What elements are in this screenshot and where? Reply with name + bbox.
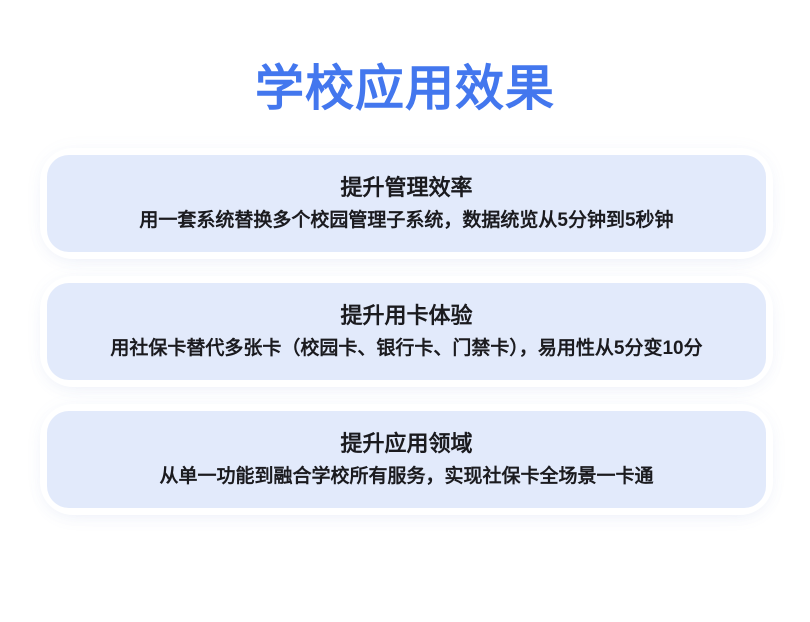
effect-card-heading: 提升管理效率	[340, 173, 472, 203]
effect-card-description: 用社保卡替代多张卡（校园卡、银行卡、门禁卡），易用性从5分变10分	[110, 335, 702, 362]
page-title: 学校应用效果	[0, 60, 810, 118]
effect-card-3: 提升应用领域 从单一功能到融合学校所有服务，实现社保卡全场景一卡通	[47, 411, 766, 508]
effect-card-description: 从单一功能到融合学校所有服务，实现社保卡全场景一卡通	[159, 463, 653, 490]
effect-card-1: 提升管理效率 用一套系统替换多个校园管理子系统，数据统览从5分钟到5秒钟	[47, 155, 766, 252]
school-application-effect-page: 学校应用效果 提升管理效率 用一套系统替换多个校园管理子系统，数据统览从5分钟到…	[0, 0, 810, 622]
effect-card-list: 提升管理效率 用一套系统替换多个校园管理子系统，数据统览从5分钟到5秒钟 提升用…	[47, 155, 766, 508]
effect-card-heading: 提升用卡体验	[340, 301, 472, 331]
effect-card-heading: 提升应用领域	[340, 429, 472, 459]
effect-card-body: 提升用卡体验 用社保卡替代多张卡（校园卡、银行卡、门禁卡），易用性从5分变10分	[47, 283, 766, 380]
effect-card-2: 提升用卡体验 用社保卡替代多张卡（校园卡、银行卡、门禁卡），易用性从5分变10分	[47, 283, 766, 380]
effect-card-body: 提升管理效率 用一套系统替换多个校园管理子系统，数据统览从5分钟到5秒钟	[47, 155, 766, 252]
effect-card-description: 用一套系统替换多个校园管理子系统，数据统览从5分钟到5秒钟	[139, 207, 673, 234]
effect-card-body: 提升应用领域 从单一功能到融合学校所有服务，实现社保卡全场景一卡通	[47, 411, 766, 508]
